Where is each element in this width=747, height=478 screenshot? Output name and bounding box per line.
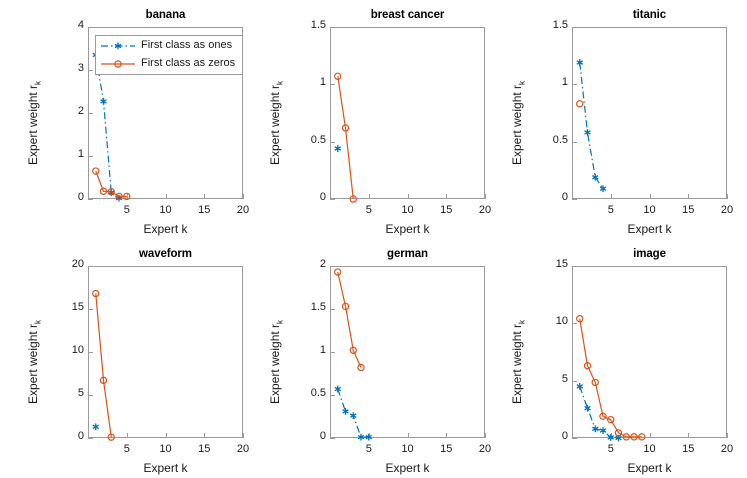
legend-sample-layer — [0, 0, 747, 478]
figure-canvas: banana012345101520Expert kExpert weight … — [0, 0, 747, 478]
